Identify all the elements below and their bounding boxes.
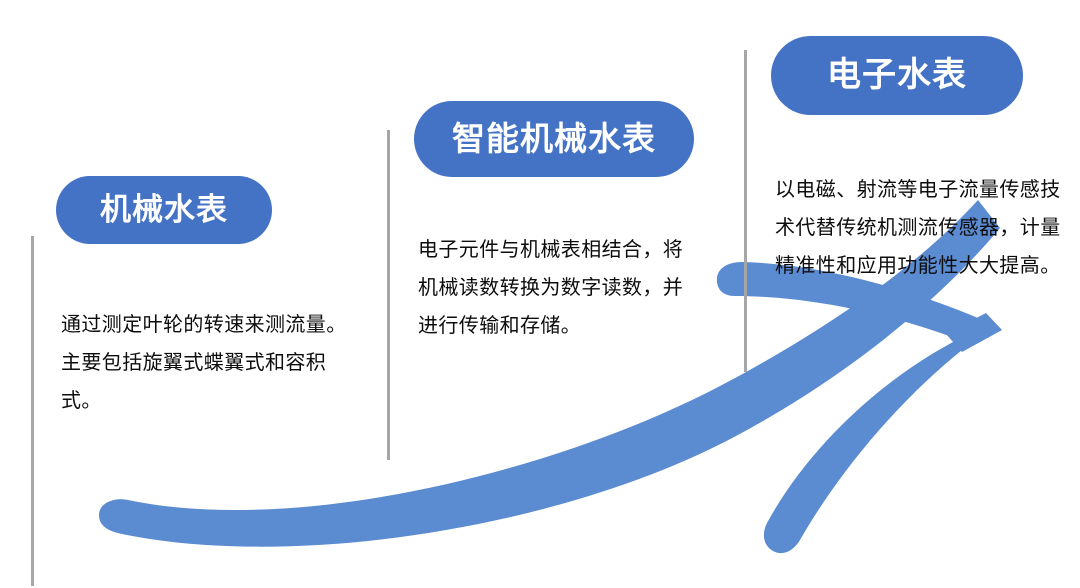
stage-description-electronic: 以电磁、射流等电子流量传感技术代替传统机测流传感器，计量精准性和应用功能性大大提… <box>775 171 1075 285</box>
stage-column-smart-mechanical: 智能机械水表 电子元件与机械表相结合，将机械读数转换为数字读数，并进行传输和存储… <box>414 101 704 345</box>
infographic-canvas: 机械水表 通过测定叶轮的转速来测流量。主要包括旋翼式蝶翼式和容积式。 智能机械水… <box>0 0 1080 588</box>
stage-description-smart-mechanical: 电子元件与机械表相结合，将机械读数转换为数字读数，并进行传输和存储。 <box>418 231 702 345</box>
stage-column-electronic: 电子水表 以电磁、射流等电子流量传感技术代替传统机测流传感器，计量精准性和应用功… <box>771 36 1071 285</box>
arrow-tip <box>946 313 1002 352</box>
column-divider-3 <box>744 50 747 372</box>
column-divider-1 <box>31 236 34 586</box>
arrow-barb-lower <box>764 330 977 553</box>
stage-label-electronic[interactable]: 电子水表 <box>771 36 1023 115</box>
stage-label-mechanical[interactable]: 机械水表 <box>56 176 272 244</box>
stage-label-smart-mechanical[interactable]: 智能机械水表 <box>414 101 694 177</box>
arrow-head <box>717 262 1002 553</box>
stage-column-mechanical: 机械水表 通过测定叶轮的转速来测流量。主要包括旋翼式蝶翼式和容积式。 <box>56 176 356 420</box>
column-divider-2 <box>387 130 390 460</box>
stage-description-mechanical: 通过测定叶轮的转速来测流量。主要包括旋翼式蝶翼式和容积式。 <box>61 306 361 420</box>
